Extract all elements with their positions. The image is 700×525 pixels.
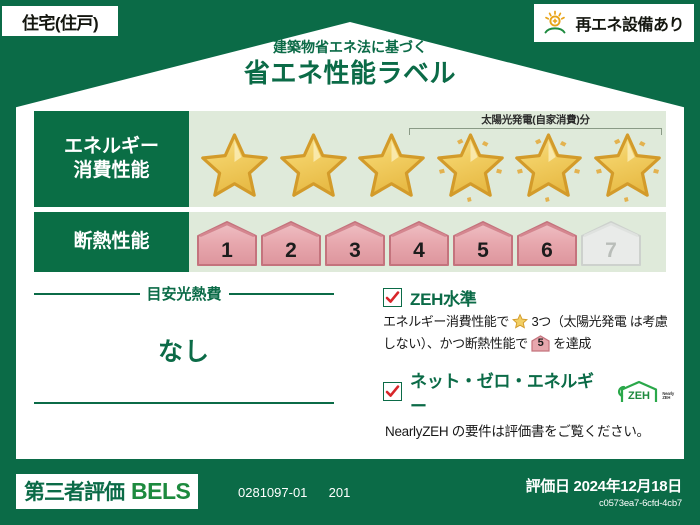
page-subtitle: 建築物省エネ法に基づく: [0, 40, 700, 55]
insulation-grade-value: 5: [452, 239, 514, 263]
certificate-number: 0281097-01: [238, 485, 307, 500]
renewable-equipment-badge: 再エネ設備あり: [534, 4, 694, 42]
zeh-standard-heading: ZEH水準: [383, 285, 674, 310]
category-badge-label: 住宅(住戸): [22, 9, 98, 34]
category-badge: 住宅(住戸): [0, 4, 120, 38]
net-zero-title: ネット・ゼロ・エネルギー: [410, 367, 606, 417]
net-zero-heading: ネット・ゼロ・エネルギー ZEH Nearly ZEH: [383, 367, 674, 417]
insulation-label-text: 断熱性能: [73, 230, 149, 254]
utility-cost-heading-label: 目安光熱費: [147, 283, 222, 304]
bels-badge-jp: 第三者評価: [24, 476, 124, 506]
inline-house-grade-value: 5: [531, 336, 550, 352]
zeh-section: ZEH水準 エネルギー消費性能で 3つ（太陽光発電 は考慮しない）、かつ断熱性能…: [383, 285, 674, 442]
footer: 第三者評価 BELS 0281097-01 201 評価日 2024年12月18…: [0, 463, 700, 525]
star-solar: [509, 129, 588, 203]
utility-cost-section: 目安光熱費 なし: [34, 283, 334, 404]
insulation-performance-row: 断熱性能 1234567: [34, 212, 666, 272]
star-base: [195, 129, 274, 203]
zeh-logo-mini-text: Nearly ZEH: [662, 392, 674, 404]
label-root: 住宅(住戸) 再エネ設備あり 建築物省エネ法に基づく 省エネ性能ラベル: [0, 0, 700, 525]
insulation-grade-value: 7: [580, 239, 642, 263]
energy-label-line2: 消費性能: [73, 159, 149, 183]
insulation-grade-5: 5: [452, 220, 514, 267]
energy-performance-label: エネルギー 消費性能: [34, 111, 189, 207]
rule-right: [229, 293, 335, 295]
zeh-desc-part-b: 3つ（太陽光発電: [531, 314, 626, 329]
zeh-standard-checkbox[interactable]: [383, 288, 402, 307]
insulation-grade-value: 1: [196, 239, 258, 263]
insulation-grade-1: 1: [196, 220, 258, 267]
zeh-logo-text: ZEH: [628, 390, 650, 402]
evaluation-date: 評価日 2024年12月18日: [526, 475, 682, 496]
insulation-grade-2: 2: [260, 220, 322, 267]
net-zero-note: NearlyZEH の要件は評価書をご覧ください。: [383, 423, 674, 442]
net-zero-checkbox[interactable]: [383, 382, 402, 401]
star-solar: [431, 129, 510, 203]
energy-performance-row: エネルギー 消費性能 太陽光発電(自家消費)分: [34, 111, 666, 207]
utility-cost-bottom-rule: [34, 402, 334, 404]
page-title-block: 建築物省エネ法に基づく 省エネ性能ラベル: [0, 40, 700, 90]
insulation-grade-scale: 1234567: [194, 218, 661, 268]
renewable-badge-label: 再エネ設備あり: [575, 11, 684, 35]
metrics: エネルギー 消費性能 太陽光発電(自家消費)分 断熱性能 1234567: [34, 111, 666, 272]
utility-cost-value: なし: [34, 304, 334, 368]
insulation-grade-7: 7: [580, 220, 642, 267]
utility-cost-heading: 目安光熱費: [34, 283, 334, 304]
zeh-desc-part-a: エネルギー消費性能で: [383, 314, 509, 329]
zeh-desc-part-d: を達成: [553, 336, 591, 351]
star-rating: [189, 129, 666, 203]
solar-annotation-label: 太陽光発電(自家消費)分: [409, 112, 662, 127]
insulation-grade-3: 3: [324, 220, 386, 267]
insulation-performance-body: 1234567: [189, 212, 666, 272]
energy-performance-body: 太陽光発電(自家消費)分: [189, 111, 666, 207]
sun-renewable-icon: [542, 10, 568, 36]
star-solar: [588, 129, 667, 203]
rule-left: [34, 293, 140, 295]
evaluation-hash: c0573ea7-6cfd-4cb7: [526, 498, 682, 509]
insulation-grade-value: 6: [516, 239, 578, 263]
inline-star-icon: [512, 313, 528, 335]
unit-number: 201: [329, 485, 351, 500]
certificate-numbers: 0281097-01 201: [238, 485, 350, 500]
insulation-grade-value: 2: [260, 239, 322, 263]
inline-house-grade-icon: 5: [531, 335, 550, 352]
energy-label-line1: エネルギー: [64, 135, 159, 159]
bels-badge: 第三者評価 BELS: [16, 474, 198, 509]
zeh-logo: ZEH Nearly ZEH: [618, 380, 674, 404]
star-base: [352, 129, 431, 203]
insulation-grade-4: 4: [388, 220, 450, 267]
insulation-grade-value: 3: [324, 239, 386, 263]
page-title: 省エネ性能ラベル: [0, 57, 700, 90]
evaluation-info: 評価日 2024年12月18日 c0573ea7-6cfd-4cb7: [526, 475, 682, 509]
insulation-grade-value: 4: [388, 239, 450, 263]
zeh-standard-title: ZEH水準: [410, 285, 477, 310]
insulation-performance-label: 断熱性能: [34, 212, 189, 272]
star-base: [274, 129, 353, 203]
zeh-standard-description: エネルギー消費性能で 3つ（太陽光発電 は考慮しない）、かつ断熱性能で 5 を達…: [383, 313, 674, 354]
insulation-grade-6: 6: [516, 220, 578, 267]
bels-badge-en: BELS: [131, 478, 190, 505]
